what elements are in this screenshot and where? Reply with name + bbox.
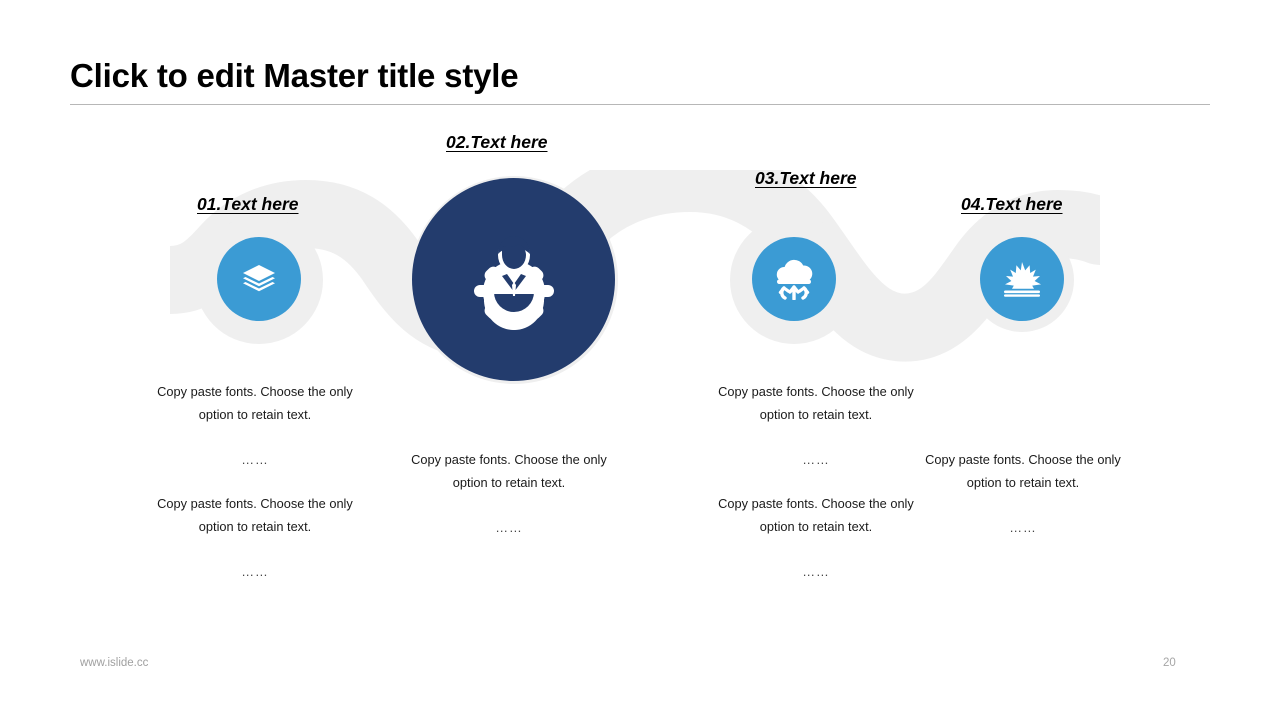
footer-url[interactable]: www.islide.cc [80,657,148,669]
spacer [706,427,926,449]
slide-number: 20 [1163,657,1203,669]
node-ring-2 [410,176,618,384]
text-column-3[interactable]: Copy paste fonts. Choose the only option… [706,381,926,584]
spacer [706,539,926,561]
spacer [913,495,1133,517]
body-text: Copy paste fonts. Choose the only option… [145,381,365,427]
layers-icon [240,260,278,298]
cloud-sync-icon [772,258,816,300]
spacer [399,495,619,517]
ellipsis-marker: …… [706,449,926,472]
step-label-02[interactable]: 02.Text here [446,132,548,153]
text-column-2[interactable]: Copy paste fonts. Choose the only option… [399,449,619,539]
spacer [706,471,926,493]
slide-canvas: Click to edit Master title style [0,0,1280,720]
node-ring-4 [970,228,1074,332]
page-title: Click to edit Master title style [70,55,1210,96]
spacer [145,539,365,561]
spacer [145,427,365,449]
body-text: Copy paste fonts. Choose the only option… [399,449,619,495]
node-ring-3 [730,216,858,344]
node-ring-1 [195,216,323,344]
text-column-1[interactable]: Copy paste fonts. Choose the only option… [145,381,365,584]
title-divider [70,104,1210,105]
step-label-03[interactable]: 03.Text here [755,168,857,189]
title-placeholder[interactable]: Click to edit Master title style [70,55,1210,96]
node-circle-03[interactable] [752,237,836,321]
body-text: Copy paste fonts. Choose the only option… [913,449,1133,495]
spacer [145,471,365,493]
user-gear-icon [462,228,566,332]
node-circle-04[interactable] [980,237,1064,321]
step-label-04[interactable]: 04.Text here [961,194,1063,215]
explosion-icon [1002,261,1042,297]
ellipsis-marker: …… [706,561,926,584]
body-text: Copy paste fonts. Choose the only option… [706,381,926,427]
ellipsis-marker: …… [145,561,365,584]
node-circle-01[interactable] [217,237,301,321]
ellipsis-marker: …… [913,517,1133,540]
process-diagram [0,0,1280,720]
body-text: Copy paste fonts. Choose the only option… [706,493,926,539]
text-column-4[interactable]: Copy paste fonts. Choose the only option… [913,449,1133,539]
node-circle-02[interactable] [412,178,615,381]
ellipsis-marker: …… [145,449,365,472]
step-label-01[interactable]: 01.Text here [197,194,299,215]
body-text: Copy paste fonts. Choose the only option… [145,493,365,539]
ellipsis-marker: …… [399,517,619,540]
